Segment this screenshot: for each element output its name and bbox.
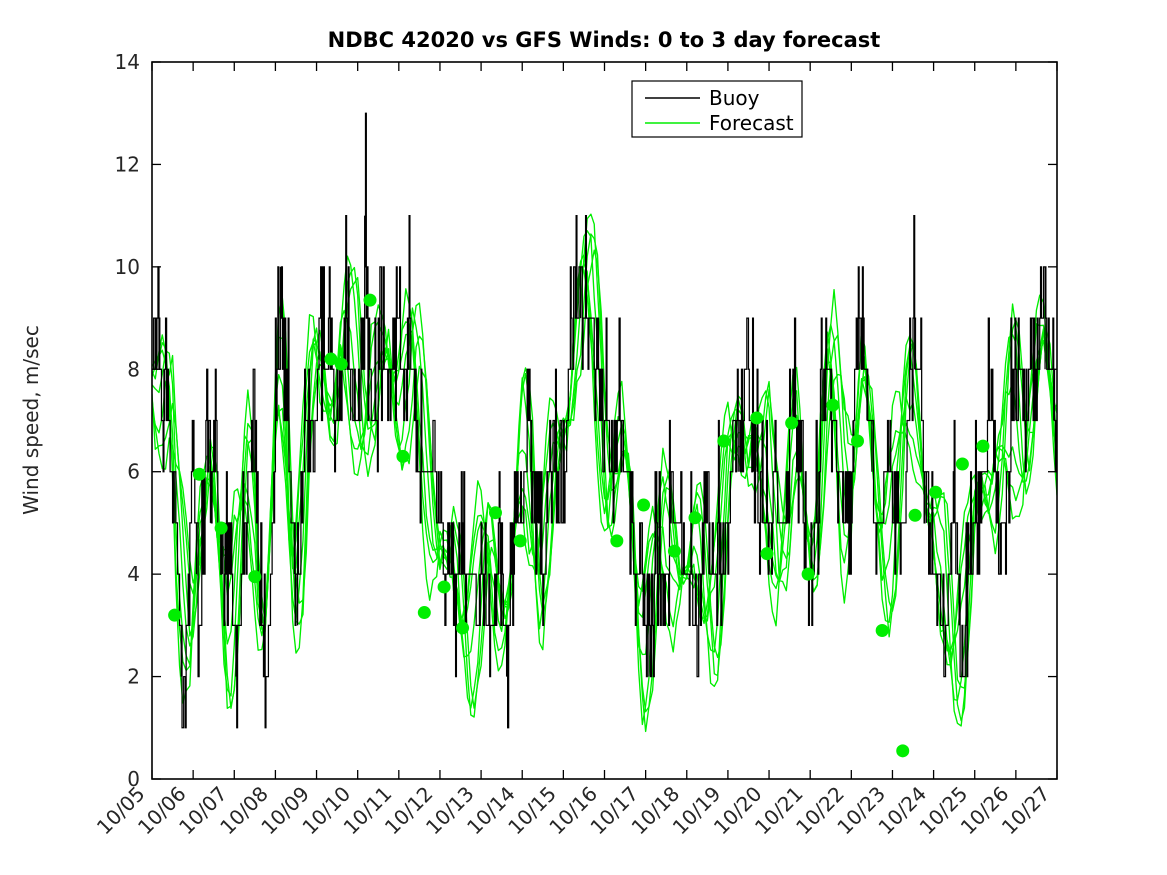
forecast-marker	[876, 624, 889, 637]
forecast-marker	[896, 744, 909, 757]
y-tick-label: 14	[115, 50, 140, 74]
forecast-marker	[248, 570, 261, 583]
forecast-marker	[851, 434, 864, 447]
forecast-series	[152, 214, 1057, 731]
forecast-marker	[976, 440, 989, 453]
forecast-marker	[489, 506, 502, 519]
forecast-marker	[193, 468, 206, 481]
forecast-marker	[668, 545, 681, 558]
forecast-marker	[215, 522, 228, 535]
buoy-series	[152, 113, 1057, 728]
y-tick-label: 2	[127, 665, 140, 689]
forecast-marker	[750, 411, 763, 424]
forecast-marker	[456, 621, 469, 634]
chart-legend[interactable]: Buoy Forecast	[632, 81, 802, 137]
forecast-marker	[335, 358, 348, 371]
forecast-marker	[826, 399, 839, 412]
forecast-marker	[168, 609, 181, 622]
forecast-marker	[785, 417, 798, 430]
forecast-marker	[689, 511, 702, 524]
forecast-marker	[760, 547, 773, 560]
y-axis-label: Wind speed, m/sec	[19, 325, 43, 515]
chart-title: NDBC 42020 vs GFS Winds: 0 to 3 day fore…	[328, 28, 881, 52]
forecast-marker	[418, 606, 431, 619]
wind-speed-chart: NDBC 42020 vs GFS Winds: 0 to 3 day fore…	[0, 0, 1167, 875]
forecast-marker	[802, 568, 815, 581]
forecast-marker	[364, 294, 377, 307]
x-tick-label: 10/27	[997, 782, 1055, 840]
forecast-marker	[396, 450, 409, 463]
forecast-marker	[438, 580, 451, 593]
forecast-marker	[610, 534, 623, 547]
figure-container: NDBC 42020 vs GFS Winds: 0 to 3 day fore…	[0, 0, 1167, 875]
y-tick-label: 6	[127, 460, 140, 484]
forecast-marker	[514, 534, 527, 547]
legend-label-forecast: Forecast	[709, 111, 794, 135]
forecast-marker	[637, 499, 650, 512]
y-tick-label: 10	[115, 255, 140, 279]
buoy-line	[152, 113, 1057, 728]
y-tick-label: 8	[127, 357, 140, 381]
legend-label-buoy: Buoy	[709, 86, 760, 110]
forecast-marker	[929, 486, 942, 499]
y-tick-label: 12	[115, 152, 140, 176]
forecast-marker	[717, 434, 730, 447]
y-tick-label: 4	[127, 562, 140, 586]
forecast-marker	[956, 458, 969, 471]
forecast-marker	[909, 509, 922, 522]
